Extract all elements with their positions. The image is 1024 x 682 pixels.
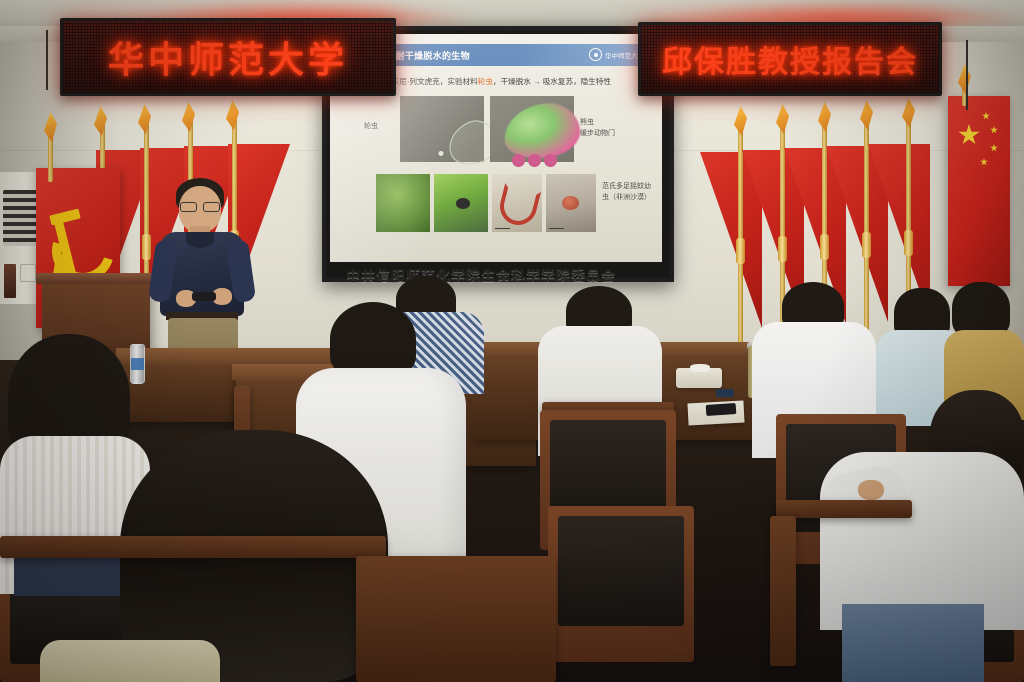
led-sign-right: 邱保胜教授报告会 (638, 22, 942, 96)
ceiling-glow-right (640, 0, 1024, 24)
attendee-top (40, 640, 220, 682)
presentation-remote[interactable] (192, 292, 216, 301)
university-logo: 华中师范大学 (589, 48, 644, 61)
tardigrade-micrograph (490, 96, 574, 162)
slide-body-highlight: 轮虫 (478, 77, 493, 86)
attendee-jeans (842, 604, 984, 682)
lectern-top (36, 273, 156, 284)
speaker-collar (186, 232, 214, 248)
slide-body-after: ，干燥脱水 → 吸水复苏，隐生特性 (493, 77, 611, 86)
smartphone-secondary[interactable] (716, 389, 734, 397)
bench-back-front-center (356, 556, 556, 682)
rotifer-micrograph (400, 96, 484, 162)
midge-caption-line1: 范氏多足摇蚊幼 (602, 182, 662, 191)
desk-side-panel-right (770, 516, 796, 666)
led-cable-left (46, 30, 48, 90)
led-sign-left: 华中师范大学 (60, 18, 396, 96)
midge-caption-line2: 虫（非洲沙漠） (602, 193, 662, 202)
larva-micrograph (492, 174, 542, 232)
ac-louvers-icon (3, 190, 37, 246)
bench-rail-front-left (0, 536, 386, 558)
smartphone[interactable] (706, 403, 737, 416)
ac-control-panel[interactable] (20, 264, 36, 282)
ac-sticker (4, 264, 16, 298)
tardigrade-caption-line2: 缓步动物门 (580, 129, 615, 138)
led-cable-right (966, 40, 968, 110)
university-seal-icon (589, 48, 602, 61)
speaker (150, 178, 254, 372)
midge-larva-field-photo (376, 174, 430, 232)
bottle-label (131, 358, 144, 370)
rotifer-caption: 轮虫 (364, 122, 378, 131)
glasses-icon (180, 202, 220, 210)
national-flag (948, 96, 1010, 286)
led-sign-right-text: 邱保胜教授报告会 (662, 37, 918, 81)
tissue-sheet (690, 364, 710, 372)
wall-sign-text: 中共信阳师范化学院生命科学学院委员会 (346, 266, 646, 286)
led-sign-left-text: 华中师范大学 (108, 31, 348, 83)
tardigrade-caption-line1: 熊虫 (580, 118, 594, 127)
slide-body-text: 1702年，安东尼·列文虎克，实验材料轮虫，干燥脱水 → 吸水复苏，隐生特性 (352, 76, 652, 87)
midge-adult-photo (434, 174, 488, 232)
attendee-hand (858, 480, 884, 500)
lecture-hall-photo: 研究背景：耐干燥脱水的生物 华中师范大学 1702年，安东尼·列文虎克，实验材料… (0, 0, 1024, 682)
water-bottle[interactable] (130, 344, 145, 384)
desiccated-larva-micrograph (546, 174, 596, 232)
desk-ledge-right (776, 500, 912, 518)
